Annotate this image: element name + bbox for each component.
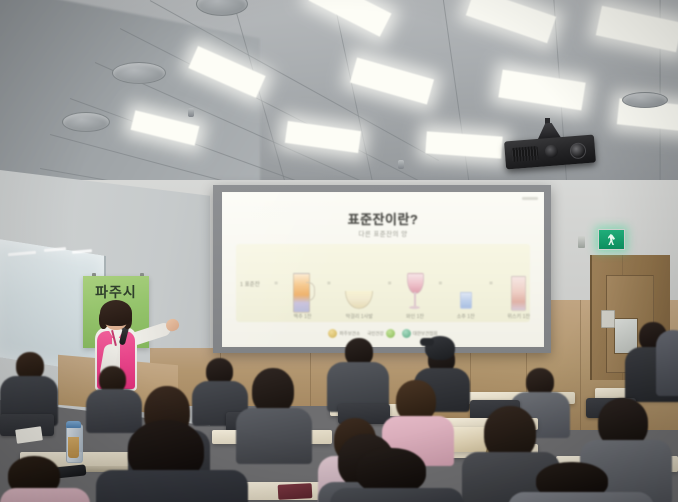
health-center-logo-icon [386,329,395,338]
wallet [278,483,313,500]
ceiling-soffit [0,0,260,196]
equals-sign: = [388,281,392,287]
torso [330,488,464,502]
torso [508,492,654,502]
audience-member-foreground [0,456,86,502]
air-vent [62,112,110,132]
makgeolli-bowl-icon [345,291,373,309]
equals-sign: = [439,281,443,287]
cap-brim [420,338,434,346]
paju-city-logo-icon [328,329,337,338]
audience-member [236,368,310,460]
ceiling [0,0,678,196]
lecture-room-photo: 표준잔이란? 다른 표준잔의 양 1 표준잔 = 맥주 1잔 = 막걸리 1사발 [0,0,678,502]
audience-member [656,330,678,392]
banner-title: 파주시 [83,282,149,302]
drink-wine: 와인 1잔 [406,248,424,320]
drink-caption: 위스키 1잔 [507,313,530,320]
drink-caption: 소주 1잔 [457,313,475,320]
logo-paju-city: 파주보건소 [328,329,360,338]
torso [236,408,312,464]
projector-grill [512,146,539,162]
papers [15,426,43,443]
logo-label: 파주보건소 [339,331,360,337]
drink-caption: 맥주 1잔 [294,313,312,320]
drink-soju: 소주 1잔 [457,248,475,320]
soju-glass-icon [460,292,472,309]
ceiling-light [466,0,556,43]
ceiling-light [596,6,678,52]
ceiling-light [308,0,391,37]
ceiling-light [350,57,434,104]
wall-switch-plate[interactable] [601,310,615,328]
drink-caption: 막걸리 1사발 [346,313,373,320]
standard-drink-equivalence-row: 1 표준잔 = 맥주 1잔 = 막걸리 1사발 = [240,248,530,320]
logo-label: 국민건강 [367,331,384,337]
drink-caption: 와인 1잔 [406,313,424,320]
torso [0,488,90,502]
equals-sign: = [489,281,493,287]
beer-mug-icon [293,273,313,311]
equals-sign: = [327,281,331,287]
wood-seam [310,348,311,406]
air-vent [112,62,166,84]
tumbler-cap [66,421,81,428]
sprinkler-head [188,108,194,117]
audience-member-foreground [330,448,460,502]
ceiling-grid-line [439,0,472,196]
sprinkler-head [398,160,404,169]
logo-national-health: 국민건강 [367,329,395,338]
drink-beer: 맥주 1잔 [293,248,313,320]
whisky-glass-icon [511,276,526,311]
projector-fan-icon [544,144,558,158]
alcohol-prevention-logo-icon [402,329,411,338]
equals-sign: = [274,281,278,287]
projection-screen: 표준잔이란? 다른 표준잔의 양 1 표준잔 = 맥주 1잔 = 막걸리 1사발 [222,192,544,347]
ceiling-light [498,70,585,111]
wine-glass-icon [406,273,423,311]
emergency-exit-sign [598,229,625,250]
torso [96,470,248,502]
audience-member [327,338,389,408]
audience-member-foreground [96,420,244,502]
torso [656,330,678,396]
audience-member-foreground [508,462,650,502]
ceiling-light [285,121,361,153]
presentation-slide: 표준잔이란? 다른 표준잔의 양 1 표준잔 = 맥주 1잔 = 막걸리 1사발 [222,192,544,347]
slide-logo-row: 파주보건소 국민건강 대한보건협회 [222,329,544,338]
audience-member-with-cap [420,332,462,368]
audience-member [0,352,58,422]
wall-sensor [578,236,585,248]
slide-title: 표준잔이란? [222,209,544,228]
slide-corner-mark [522,197,538,200]
tumbler-contents [68,437,79,458]
drink-makgeolli: 막걸리 1사발 [345,248,373,320]
ceiling-light [425,131,502,158]
slide-subtitle: 다른 표준잔의 양 [222,228,544,238]
standard-drink-unit-label: 1 표준잔 [240,280,260,288]
drink-whisky: 위스키 1잔 [507,248,530,320]
presenter-hair [100,300,132,326]
running-person-icon [608,234,615,245]
air-vent [196,0,248,16]
air-vent [622,92,668,108]
projector-lens [569,142,586,159]
